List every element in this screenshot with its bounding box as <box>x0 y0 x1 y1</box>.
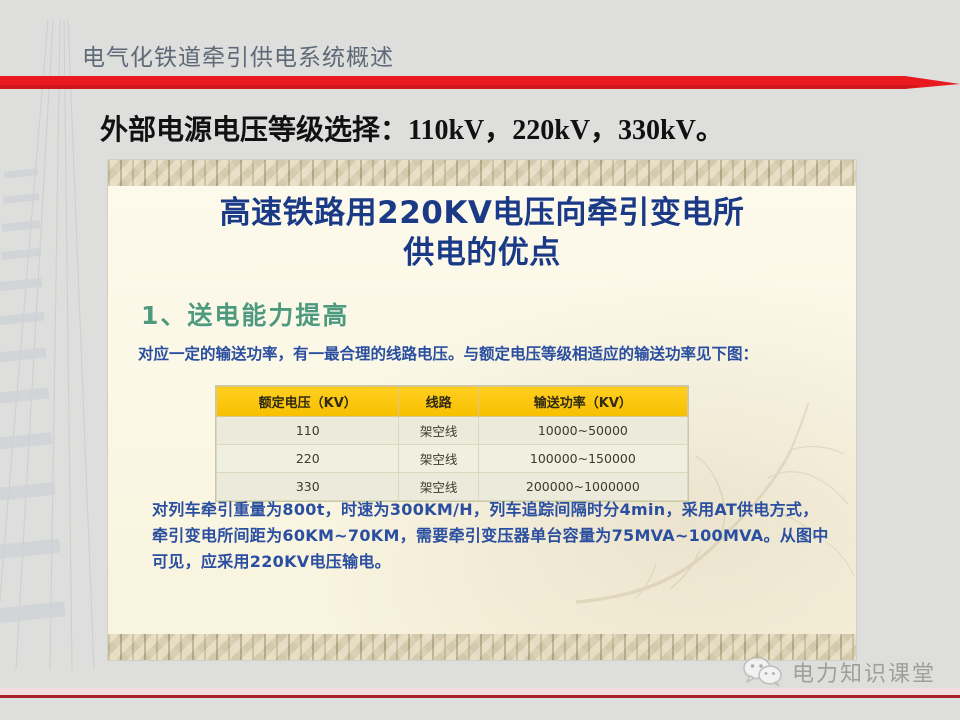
power-capacity-table: 额定电压（KV） 线路 输送功率（KV） 110 架空线 10000~50000… <box>216 386 688 501</box>
table-header-row: 额定电压（KV） 线路 输送功率（KV） <box>217 387 688 417</box>
cell-line: 架空线 <box>399 417 478 445</box>
table-header-line: 线路 <box>399 387 478 417</box>
footer-accent-rule <box>0 688 960 698</box>
picture-paragraph-bottom: 对列车牵引重量为800t，时速为300KM/H，列车追踪间隔时分4min，采用A… <box>152 497 832 575</box>
lead-heading: 外部电源电压等级选择：110kV，220kV，330kV。 <box>100 108 724 148</box>
table-row: 110 架空线 10000~50000 <box>217 417 688 445</box>
picture-paragraph-top: 对应一定的输送功率，有一最合理的线路电压。与额定电压等级相适应的输送功率见下图： <box>138 342 828 366</box>
cell-voltage: 220 <box>217 445 399 473</box>
picture-title-line2: 供电的优点 <box>108 234 856 274</box>
railway-track-watermark <box>0 0 110 680</box>
footer-brand: 电力知识课堂 <box>742 656 936 688</box>
table-header-voltage: 额定电压（KV） <box>217 387 399 417</box>
cell-power: 10000~50000 <box>478 417 687 445</box>
footer-brand-text: 电力知识课堂 <box>792 656 936 688</box>
slide-canvas: 电气化铁道牵引供电系统概述 外部电源电压等级选择：110kV，220kV，330… <box>0 0 960 720</box>
embedded-picture: 高速铁路用220KV电压向牵引变电所 供电的优点 1、送电能力提高 对应一定的输… <box>108 160 856 660</box>
wechat-icon <box>742 657 784 687</box>
picture-border-top <box>108 160 856 186</box>
cell-line: 架空线 <box>399 445 478 473</box>
table-row: 220 架空线 100000~150000 <box>217 445 688 473</box>
picture-title: 高速铁路用220KV电压向牵引变电所 供电的优点 <box>108 194 856 273</box>
slide-header: 电气化铁道牵引供电系统概述 <box>0 38 960 90</box>
cell-voltage: 110 <box>217 417 399 445</box>
header-accent-bar <box>0 75 960 90</box>
table-header-power: 输送功率（KV） <box>478 387 687 417</box>
picture-section-heading: 1、送电能力提高 <box>141 296 349 332</box>
page-title: 电气化铁道牵引供电系统概述 <box>82 38 394 72</box>
picture-title-line1: 高速铁路用220KV电压向牵引变电所 <box>108 194 856 234</box>
cell-power: 100000~150000 <box>478 445 687 473</box>
